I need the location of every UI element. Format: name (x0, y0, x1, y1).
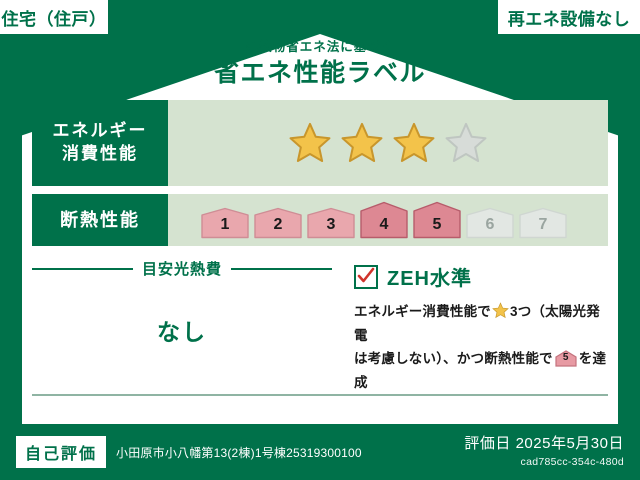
building-type-tag: 住宅（住戸） (0, 0, 109, 34)
star-rating (288, 121, 488, 165)
footer-left: 自己評価 小田原市小八幡第13(2棟)1号棟25319300100 (0, 436, 464, 468)
footer-right: 評価日 2025年5月30日 cad785cc-354c-480d (464, 434, 640, 469)
star-icon-filled (340, 121, 384, 165)
label-footer: 自己評価 小田原市小八幡第13(2棟)1号棟25319300100 評価日 20… (0, 424, 640, 480)
energy-performance-value (168, 100, 608, 186)
energy-performance-row: エネルギー 消費性能 (32, 100, 608, 186)
title-main: 省エネ性能ラベル (0, 59, 640, 88)
insulation-grade-1: 1 (200, 207, 250, 239)
energy-performance-label: 住宅（住戸） 再エネ設備なし 建築物省エネ法に基づく 省エネ性能ラベル エネルギ… (0, 0, 640, 480)
separator-line (32, 394, 608, 396)
utility-cost-section: 目安光熱費 なし (32, 258, 332, 395)
grade-chip-shape (253, 207, 303, 239)
zeh-heading: ZEH水準 (354, 262, 608, 291)
energy-label-line1: エネルギー (53, 120, 148, 143)
energy-label-line2: 消費性能 (62, 143, 138, 166)
insulation-grade-2: 2 (253, 207, 303, 239)
rule-left (32, 268, 133, 270)
insulation-grade-3: 3 (306, 207, 356, 239)
insulation-performance-row: 断熱性能 1234567 (32, 194, 608, 246)
grade-chip-shape (359, 201, 409, 239)
utility-cost-heading: 目安光熱費 (32, 258, 332, 279)
energy-performance-label: エネルギー 消費性能 (32, 100, 168, 186)
document-id: cad785cc-354c-480d (464, 456, 624, 470)
zeh-section: ZEH水準 エネルギー消費性能で3つ（太陽光発電は考慮しない）、かつ断熱性能で5… (332, 258, 608, 395)
insulation-performance-value: 1234567 (168, 194, 608, 246)
renewable-energy-tag: 再エネ設備なし (498, 0, 640, 34)
zeh-desc-part1: エネルギー消費性能で (354, 304, 491, 319)
insulation-grade-7: 7 (518, 207, 568, 239)
zeh-checkbox[interactable] (354, 265, 378, 289)
star-icon-filled (288, 121, 332, 165)
star-icon-filled (392, 121, 436, 165)
inline-star-icon (492, 302, 509, 319)
grade-chip-shape (412, 201, 462, 239)
zeh-desc-part2: は考慮しない）、かつ断熱性能で (354, 351, 553, 366)
insulation-grade-5: 5 (412, 201, 462, 239)
utility-cost-value: なし (32, 313, 332, 347)
lower-section: 目安光熱費 なし ZEH水準 エネルギー消費性能で3つ（太陽光発電は考慮しない）… (32, 258, 608, 395)
self-evaluation-badge: 自己評価 (16, 436, 106, 468)
zeh-title: ZEH水準 (387, 262, 472, 291)
zeh-description: エネルギー消費性能で3つ（太陽光発電は考慮しない）、かつ断熱性能で5を達成 (354, 300, 608, 395)
grade-chip-shape (465, 207, 515, 239)
page-title: 建築物省エネ法に基づく 省エネ性能ラベル (0, 40, 640, 88)
insulation-grade-6: 6 (465, 207, 515, 239)
label-content: エネルギー 消費性能 断熱性能 1234567 目安光熱費 なし (32, 100, 608, 395)
inline-grade-number: 5 (555, 349, 577, 367)
utility-cost-heading-text: 目安光熱費 (142, 258, 222, 279)
rule-right (231, 268, 332, 270)
insulation-grade-4: 4 (359, 201, 409, 239)
grade-chip-shape (306, 207, 356, 239)
title-subtitle: 建築物省エネ法に基づく (0, 40, 640, 55)
star-icon-empty (444, 121, 488, 165)
insulation-performance-label: 断熱性能 (32, 194, 168, 246)
insulation-grade-scale: 1234567 (200, 201, 576, 239)
inline-grade-badge: 5 (555, 350, 577, 367)
grade-chip-shape (518, 207, 568, 239)
evaluation-date: 評価日 2025年5月30日 (464, 434, 624, 454)
property-address: 小田原市小八幡第13(2棟)1号棟25319300100 (116, 444, 362, 461)
grade-chip-shape (200, 207, 250, 239)
